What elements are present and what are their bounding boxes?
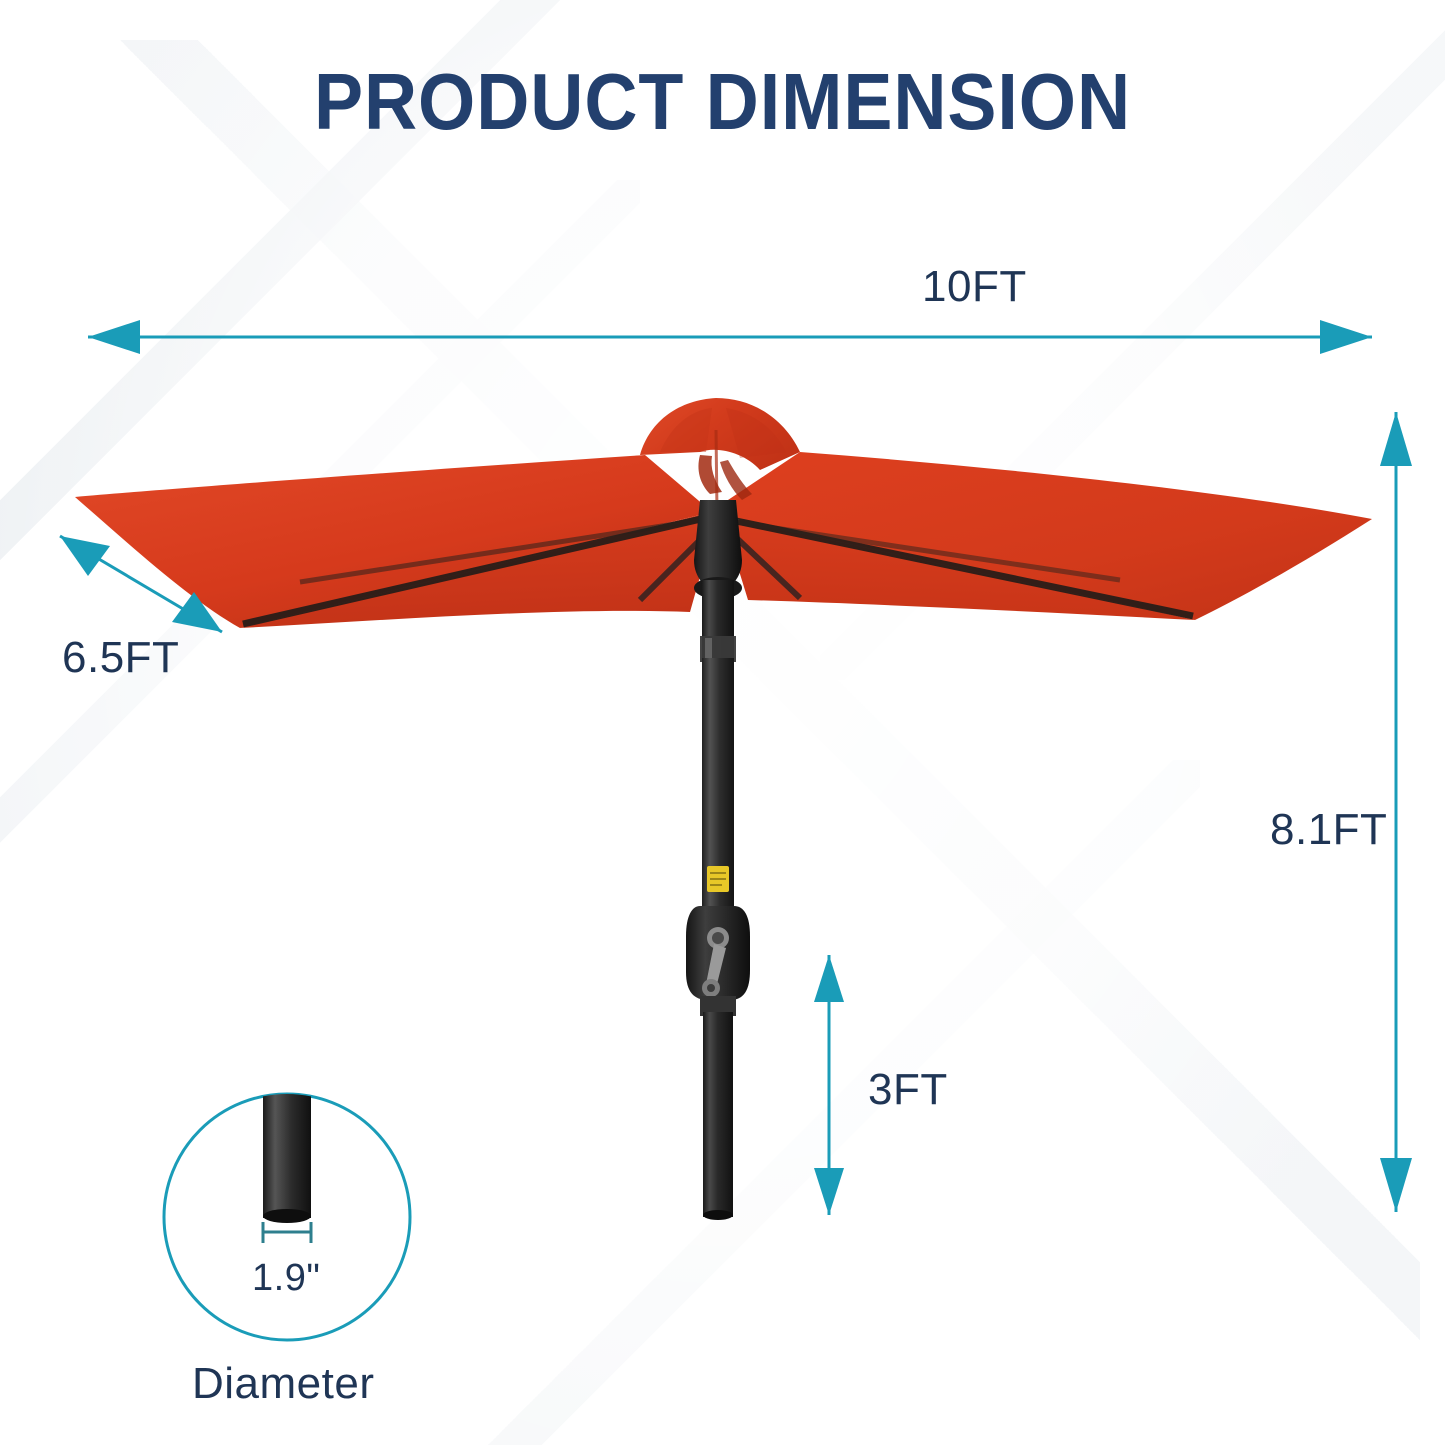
product-dimension-infographic: PRODUCT DIMENSION [0,0,1445,1445]
callout-measure-label: 1.9" [252,1257,320,1300]
page-title: PRODUCT DIMENSION [58,56,1387,148]
callout-caption: Diameter [192,1359,375,1409]
background-vignette [0,0,1445,1445]
dimension-label-width: 10FT [922,262,1027,312]
dimension-label-height: 8.1FT [1270,805,1387,855]
dimension-label-clearance: 3FT [868,1065,948,1115]
dimension-label-depth: 6.5FT [62,633,179,683]
